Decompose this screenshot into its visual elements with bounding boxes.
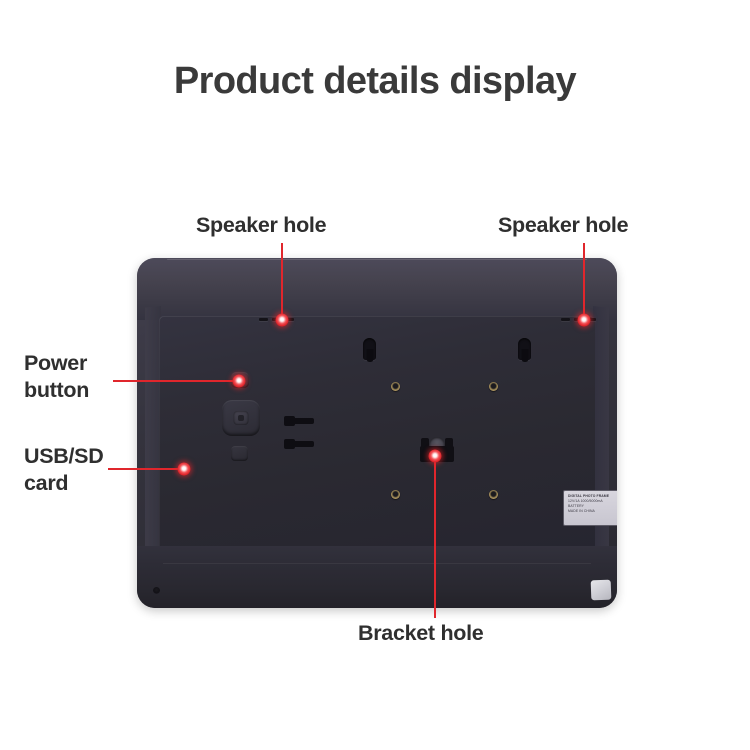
callout-label-speaker-hole-left: Speaker hole xyxy=(196,212,326,239)
vesa-screw-hole-bottom-left xyxy=(391,490,400,499)
bezel-highlight xyxy=(167,259,587,260)
keyhole-mount-left xyxy=(363,338,376,360)
usb-sd-card-port[interactable] xyxy=(231,446,248,461)
marker-usb-sd-card xyxy=(178,463,191,476)
vesa-screw-hole-top-left xyxy=(391,382,400,391)
product-spec-sticker: DIGITAL PHOTO FRAME 12V/1A 1000/5000mA B… xyxy=(563,490,617,526)
marker-power-button xyxy=(233,375,246,388)
callout-label-speaker-hole-right: Speaker hole xyxy=(498,212,628,239)
marker-speaker-hole-right xyxy=(578,314,591,327)
connector-slot-lower xyxy=(284,441,314,447)
marker-speaker-hole-left xyxy=(276,314,289,327)
leader-line-power-button xyxy=(113,380,239,382)
connector-slot-upper xyxy=(284,418,314,424)
leader-line-bracket-hole xyxy=(434,455,436,618)
sticker-origin: MADE IN CHINA xyxy=(568,509,617,514)
sticker-certification-marks: FC CE xyxy=(568,515,617,521)
vent-slot xyxy=(561,318,570,321)
leader-line-speaker-hole-right xyxy=(583,243,585,320)
marker-bracket-hole xyxy=(429,450,442,463)
navigation-control-pad[interactable] xyxy=(222,400,260,436)
callout-label-usb-sd-card: USB/SD card xyxy=(24,443,103,497)
page-title: Product details display xyxy=(0,60,750,103)
callout-label-power-button: Power button xyxy=(24,350,89,404)
leader-line-speaker-hole-left xyxy=(281,243,283,320)
vesa-screw-hole-bottom-right xyxy=(489,490,498,499)
corner-screw-bottom-left xyxy=(153,587,160,594)
diagram-canvas: Product details display xyxy=(0,0,750,750)
callout-label-bracket-hole: Bracket hole xyxy=(358,620,483,647)
vesa-screw-hole-top-right xyxy=(489,382,498,391)
keyhole-mount-right xyxy=(518,338,531,360)
device-rear-view: DIGITAL PHOTO FRAME 12V/1A 1000/5000mA B… xyxy=(137,258,617,608)
leader-line-usb-sd-card xyxy=(108,468,184,470)
corner-tab-bottom-right xyxy=(591,580,612,601)
device-top-bezel xyxy=(137,258,617,320)
device-bottom-skirt xyxy=(137,546,617,608)
vent-slot xyxy=(259,318,268,321)
device-bottom-seam xyxy=(163,563,591,564)
